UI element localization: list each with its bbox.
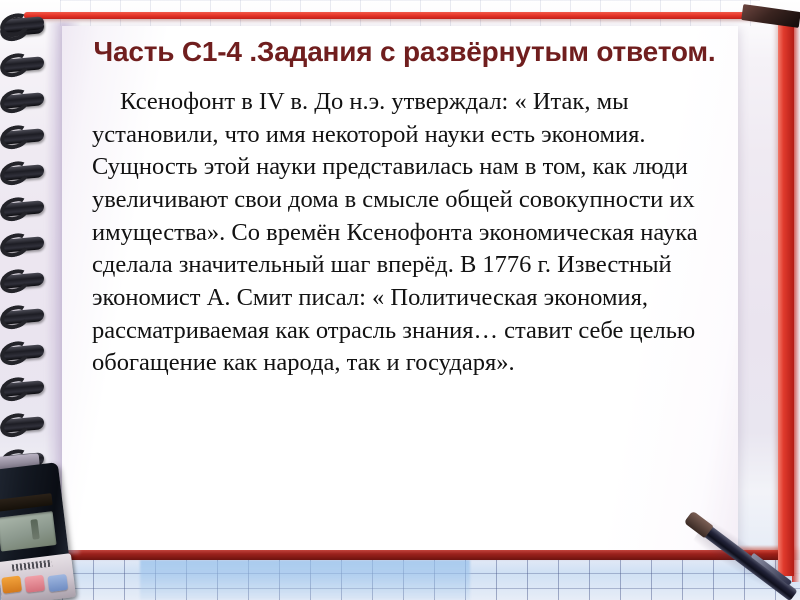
calculator-key-pink [24,575,45,593]
calculator-brand-label [12,560,53,572]
spiral-coil [2,92,44,109]
spiral-coil [2,380,44,397]
spiral-coil [2,128,44,145]
spiral-coil [2,272,44,289]
binder-right-edge [778,16,794,576]
spiral-coil [2,56,44,73]
spiral-coil [2,236,44,253]
calculator-key-orange [1,576,22,594]
calculator-keypad [0,553,76,600]
slide-title: Часть С1-4 .Задания с развёрнутым ответо… [92,34,717,70]
spiral-coil [2,200,44,217]
slide-body-text: Ксенофонт в IV в. До н.э. утверждал: « И… [92,86,717,380]
binder-bottom-edge [0,550,800,560]
calculator-display [0,511,57,552]
spiral-coil [2,416,44,433]
binder-top-edge [24,12,776,19]
spiral-coil [2,344,44,361]
calculator-display-digit [30,519,39,540]
spiral-coil [2,164,44,181]
calculator-key-blue [47,574,68,592]
graph-paper-blue-highlight [140,560,470,600]
slide-content: Часть С1-4 .Задания с развёрнутым ответо… [92,34,717,380]
spiral-coil [2,308,44,325]
slide-canvas: Часть С1-4 .Задания с развёрнутым ответо… [0,0,800,600]
